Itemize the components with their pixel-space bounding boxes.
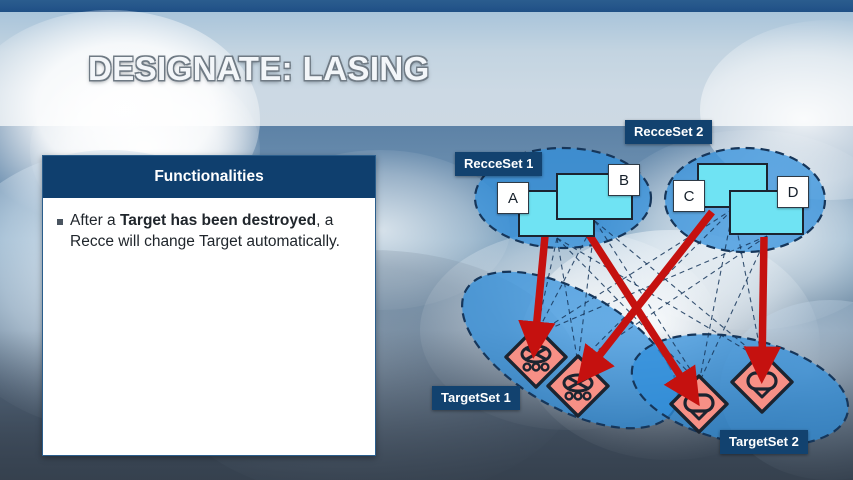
group-label-recceset1: RecceSet 1 [455, 152, 542, 176]
recce-label-A[interactable]: A [497, 182, 529, 214]
lasing-diagram: ABCDRecceSet 1RecceSet 2TargetSet 1Targe… [0, 0, 853, 480]
group-label-recceset2: RecceSet 2 [625, 120, 712, 144]
recce-label-D[interactable]: D [777, 176, 809, 208]
group-label-targetset2: TargetSet 2 [720, 430, 808, 454]
group-label-targetset1: TargetSet 1 [432, 386, 520, 410]
recce-label-C[interactable]: C [673, 180, 705, 212]
recce-label-B[interactable]: B [608, 164, 640, 196]
diagram-overlay: ABCDRecceSet 1RecceSet 2TargetSet 1Targe… [0, 0, 853, 480]
slide-canvas: DESIGNATE: LASING Functionalities After … [0, 0, 853, 480]
